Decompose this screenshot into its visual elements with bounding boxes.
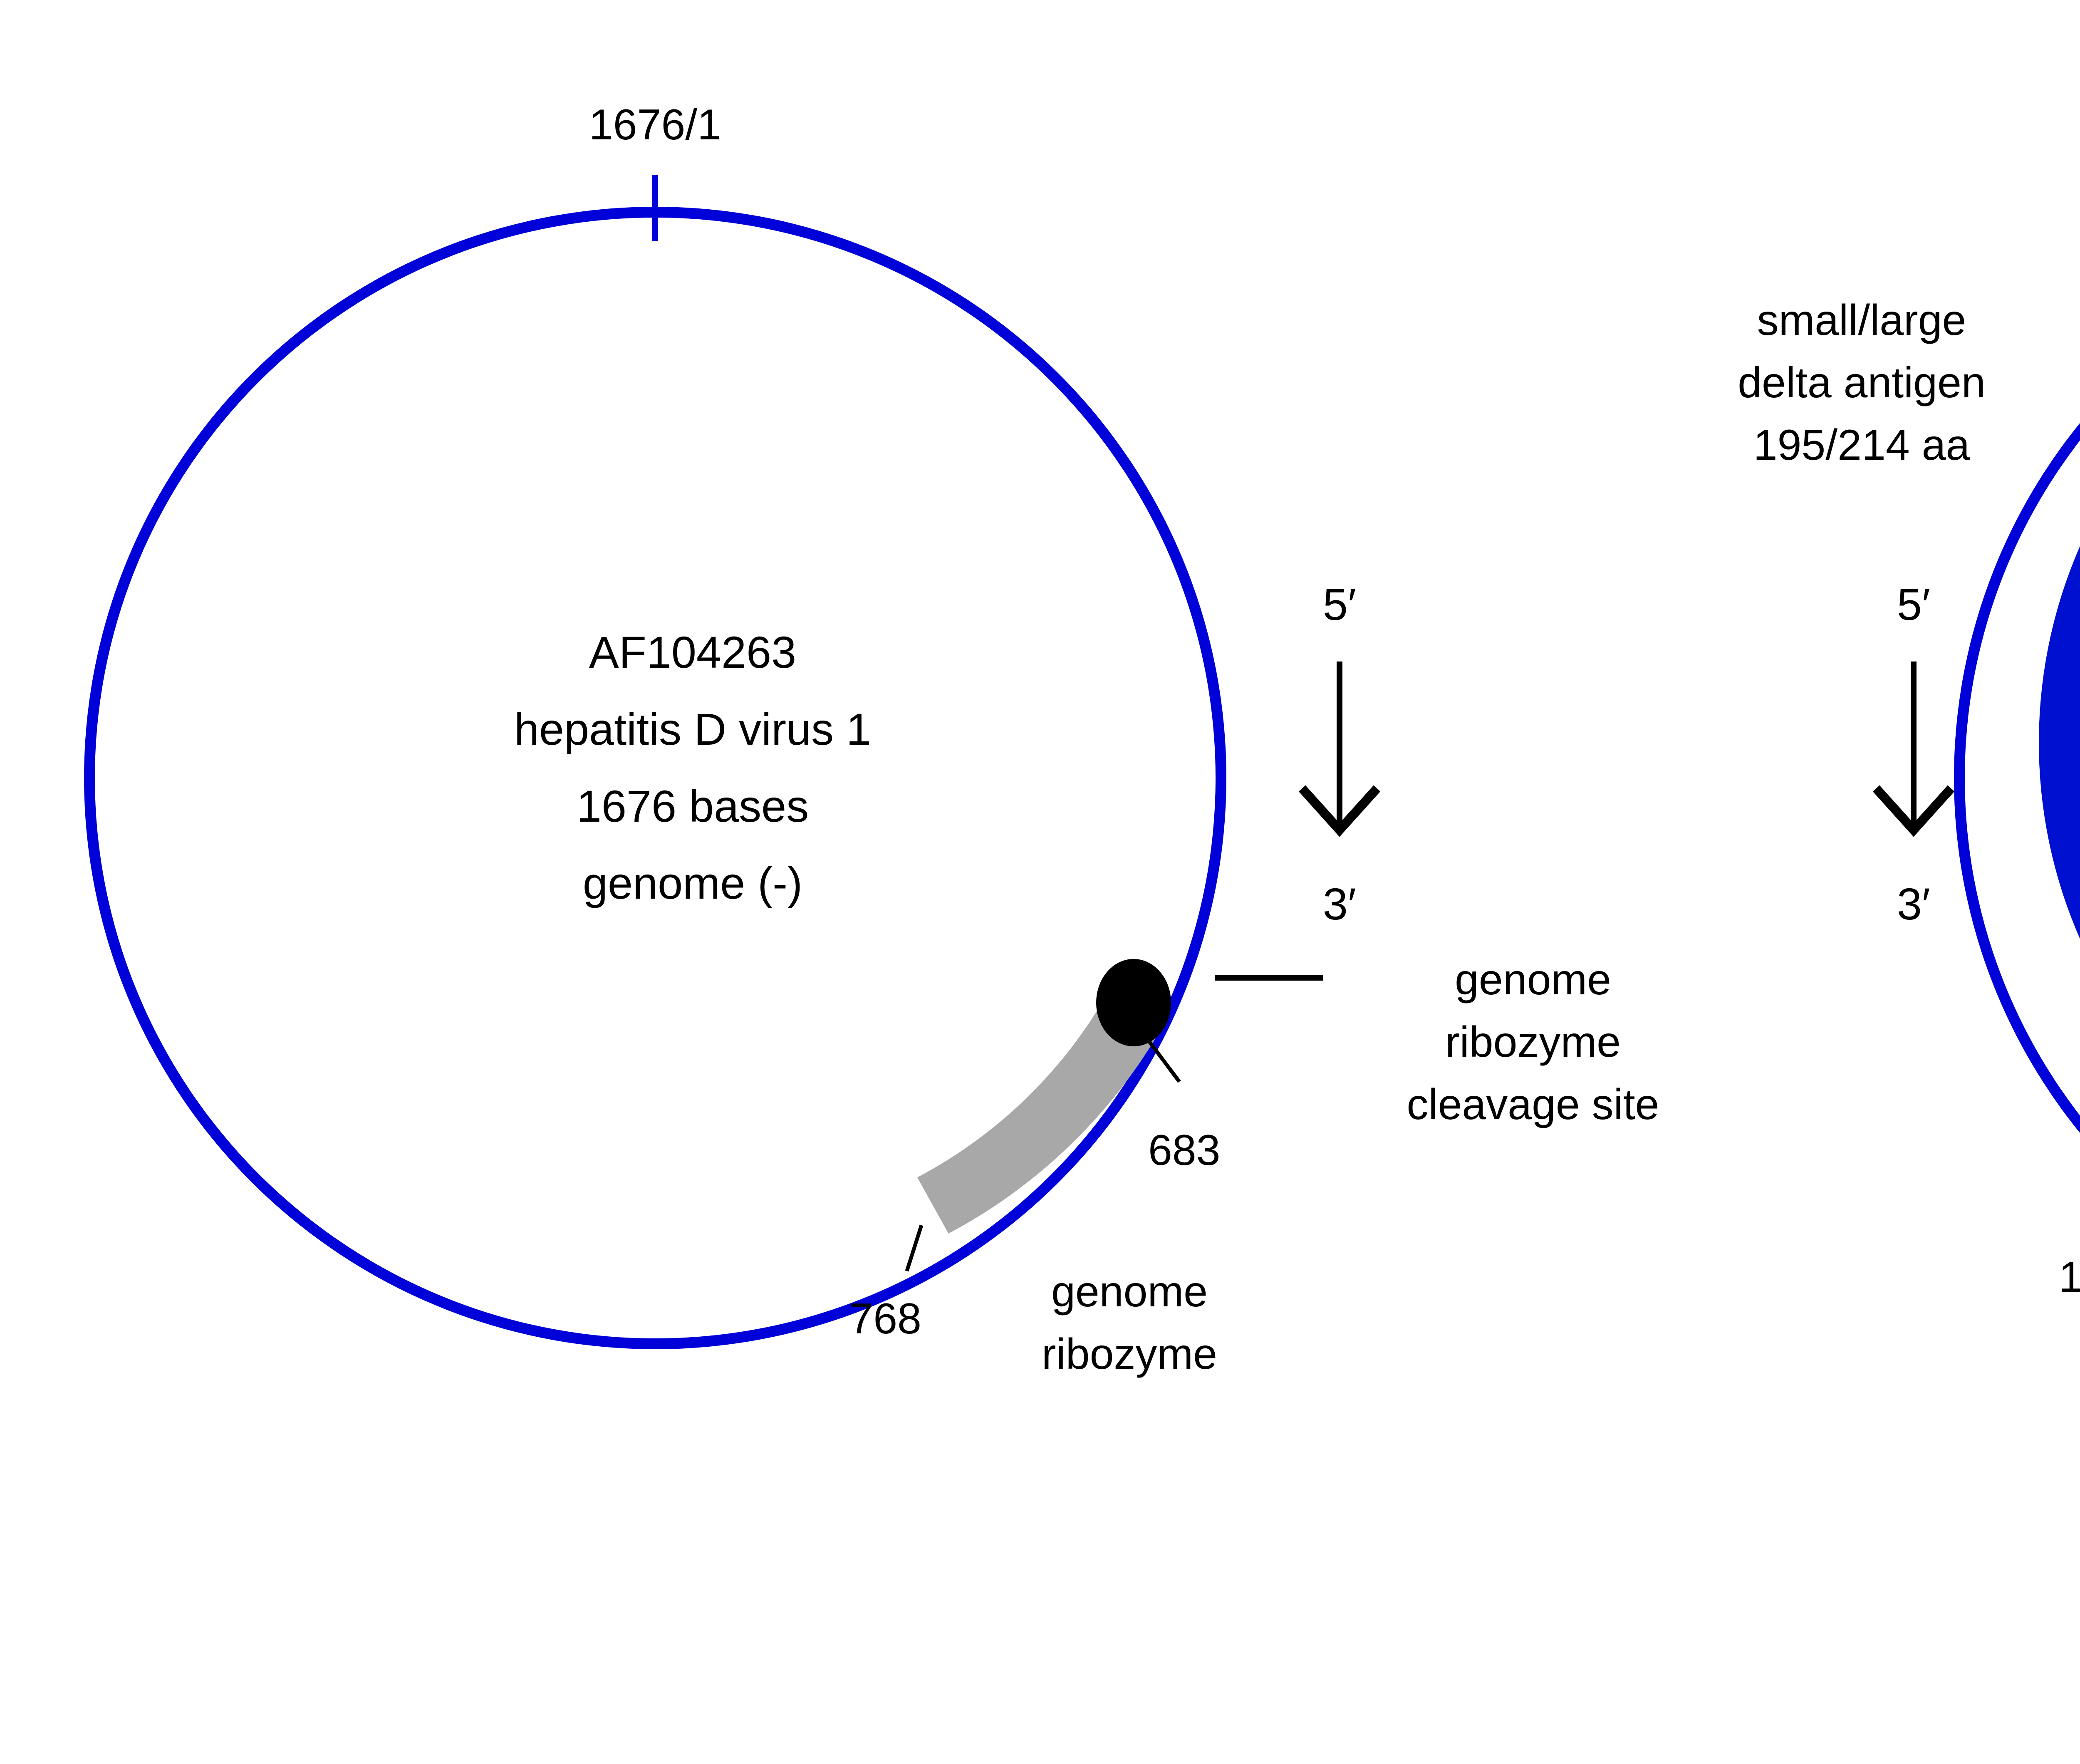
antigenome-delta-antigen-label-line1: small/large [1757,296,1966,344]
genome-768-label: 768 [849,1295,921,1343]
genome-five-prime-label: 5′ [1323,579,1356,629]
genome-683-label: 683 [1148,1126,1221,1174]
genome-683-leader [1148,1040,1179,1082]
genome-center-length: 1676 bases [577,781,809,831]
panel-genome: 1676/1 683 genome ribozyme cleavage site… [89,101,1659,1378]
genome-center-accession: AF104263 [589,627,796,677]
antigenome-1008-label: 1008 [2059,1253,2080,1301]
genome-circle-backbone [89,212,1221,1344]
antigenome-delta-antigen-arc [2039,281,2080,1063]
figure-canvas: 1676/1 683 genome ribozyme cleavage site… [0,0,2080,1764]
genome-center-organism: hepatitis D virus 1 [514,704,871,754]
genome-three-prime-label: 3′ [1323,879,1356,929]
genome-ribozyme-cleavage-site-marker [1096,959,1171,1046]
genome-cleavage-label-line3: cleavage site [1406,1080,1659,1129]
genome-768-leader [907,1225,921,1271]
genome-cleavage-label-line2: ribozyme [1445,1018,1621,1066]
genome-cleavage-label-line1: genome [1455,956,1611,1004]
genome-ribozyme-label-line2: ribozyme [1042,1330,1217,1378]
antigenome-delta-antigen-label-line2: delta antigen [1738,359,1986,407]
hdv-genome-antigenome-diagram: 1676/1 683 genome ribozyme cleavage site… [0,0,2080,1764]
genome-ribozyme-label-line1: genome [1051,1268,1208,1316]
antigenome-five-prime-label: 5′ [1897,579,1930,629]
panel-antigenome: 1676/1 1595 small/large delta antigen 19… [1738,113,2080,1682]
genome-center-polarity: genome (-) [583,858,802,908]
antigenome-delta-antigen-label-line3: 195/214 aa [1753,421,1970,469]
genome-origin-label: 1676/1 [589,101,721,149]
antigenome-three-prime-label: 3′ [1897,879,1930,929]
